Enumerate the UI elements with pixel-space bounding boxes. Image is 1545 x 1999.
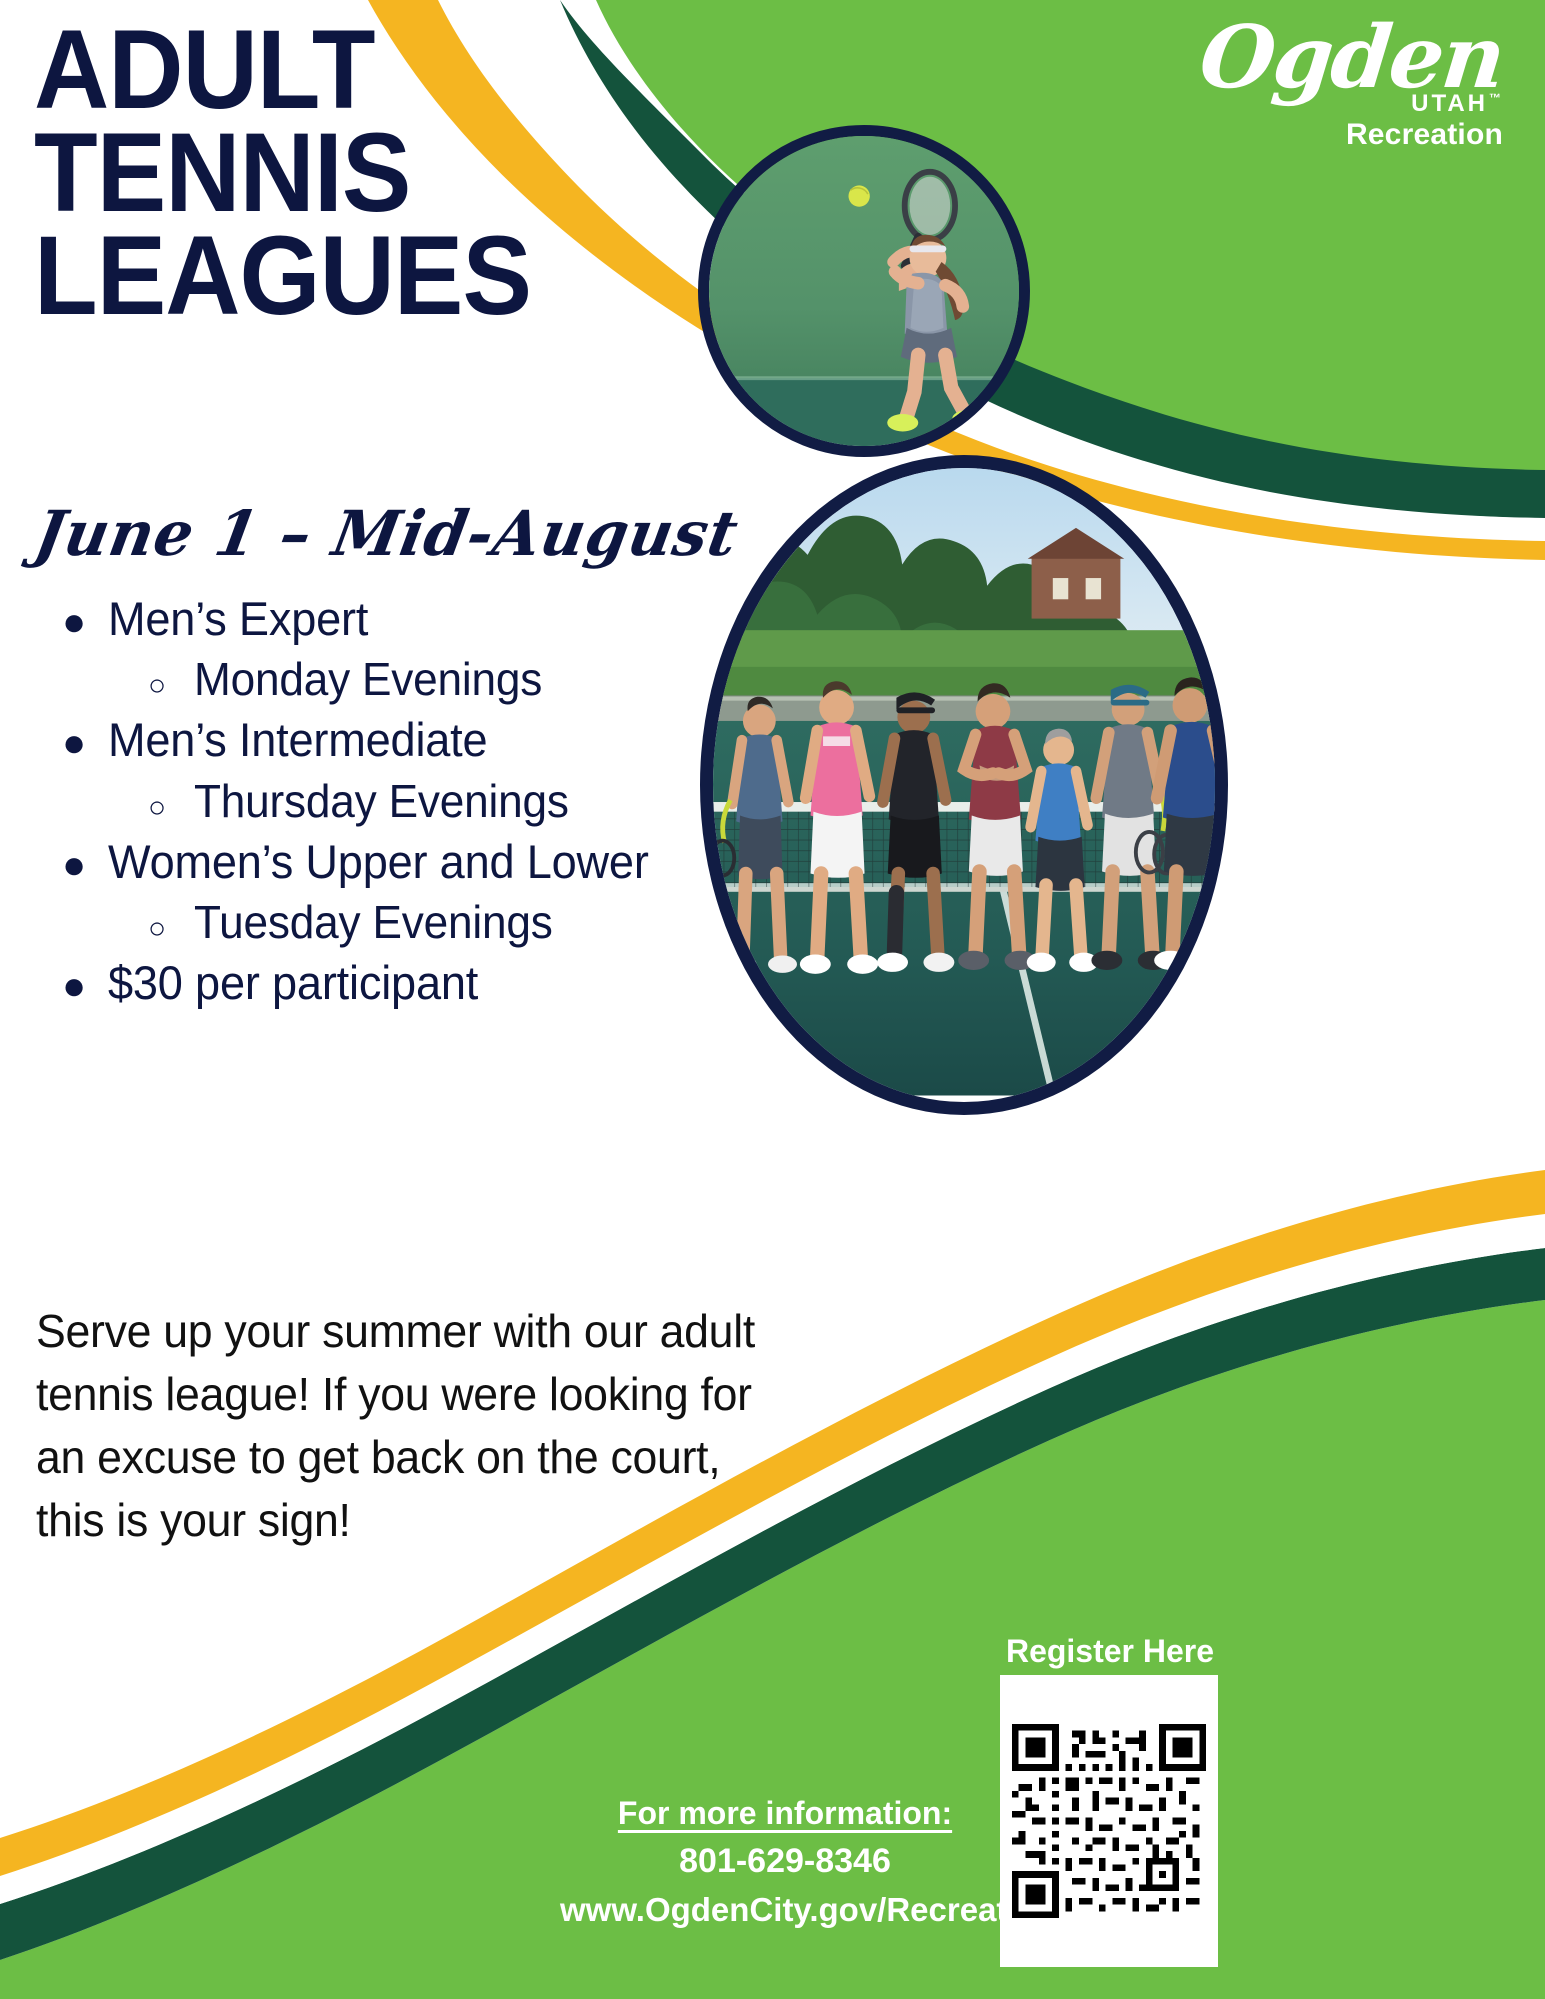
league-item: ●Men’s Intermediate bbox=[62, 711, 762, 768]
league-list: ●Men’s Expert○Monday Evenings●Men’s Inte… bbox=[62, 590, 762, 1016]
body-line-1: Serve up your summer with our adult bbox=[36, 1300, 812, 1363]
body-line-3: an excuse to get back on the court, bbox=[36, 1426, 812, 1489]
league-label: Tuesday Evenings bbox=[194, 894, 553, 950]
bullet-icon: ● bbox=[62, 602, 108, 642]
logo-state: UTAH bbox=[1411, 90, 1488, 118]
league-label: Women’s Upper and Lower bbox=[108, 833, 649, 890]
title-line-1: ADULT bbox=[34, 18, 531, 121]
body-paragraph: Serve up your summer with our adult tenn… bbox=[36, 1300, 812, 1552]
date-range: June 1 – Mid-August bbox=[30, 497, 744, 570]
website-url[interactable]: www.OgdenCity.gov/Recreation bbox=[560, 1891, 1010, 1929]
league-subitem: ○Tuesday Evenings bbox=[62, 894, 762, 950]
bullet-icon: ● bbox=[62, 723, 108, 763]
qr-code[interactable] bbox=[1000, 1675, 1218, 1967]
body-line-2: tennis league! If you were looking for bbox=[36, 1363, 812, 1426]
title-line-3: LEAGUES bbox=[34, 224, 531, 327]
hollow-bullet-icon: ○ bbox=[148, 671, 194, 701]
bullet-icon: ● bbox=[62, 966, 108, 1006]
league-item: ●Women’s Upper and Lower bbox=[62, 833, 762, 890]
league-item: ●Men’s Expert bbox=[62, 590, 762, 647]
poster-page: Ogden UTAH ™ Recreation ADULT TENNIS LEA… bbox=[0, 0, 1545, 1999]
league-label: Thursday Evenings bbox=[194, 773, 569, 829]
league-label: Men’s Expert bbox=[108, 590, 368, 647]
league-subitem: ○Thursday Evenings bbox=[62, 773, 762, 829]
body-line-4: this is your sign! bbox=[36, 1489, 812, 1552]
hollow-bullet-icon: ○ bbox=[148, 914, 194, 944]
contact-info: For more information: 801-629-8346 www.O… bbox=[560, 1795, 1010, 1929]
qr-code-icon bbox=[1012, 1689, 1206, 1953]
hollow-bullet-icon: ○ bbox=[148, 793, 194, 823]
logo-wordmark: Ogden bbox=[1173, 18, 1511, 97]
tennis-player-illustration bbox=[709, 136, 1019, 446]
logo-department: Recreation bbox=[1346, 118, 1503, 152]
title-line-2: TENNIS bbox=[34, 121, 531, 224]
more-info-label: For more information: bbox=[560, 1795, 1010, 1832]
league-item: ●$30 per participant bbox=[62, 954, 762, 1011]
league-label: Monday Evenings bbox=[194, 651, 542, 707]
ogden-recreation-logo: Ogden UTAH ™ Recreation bbox=[1177, 18, 1507, 153]
logo-state-line: UTAH ™ bbox=[1411, 90, 1501, 118]
page-title: ADULT TENNIS LEAGUES bbox=[34, 18, 531, 327]
logo-trademark-icon: ™ bbox=[1489, 91, 1501, 105]
bullet-icon: ● bbox=[62, 845, 108, 885]
league-label: Men’s Intermediate bbox=[108, 711, 487, 768]
phone-number[interactable]: 801-629-8346 bbox=[560, 1842, 1010, 1881]
league-label: $30 per participant bbox=[108, 954, 478, 1011]
league-group-photo bbox=[700, 455, 1228, 1115]
league-subitem: ○Monday Evenings bbox=[62, 651, 762, 707]
tennis-player-serving-photo bbox=[698, 125, 1030, 457]
register-here-label: Register Here bbox=[985, 1633, 1235, 1670]
group-photo-illustration bbox=[713, 468, 1215, 1096]
